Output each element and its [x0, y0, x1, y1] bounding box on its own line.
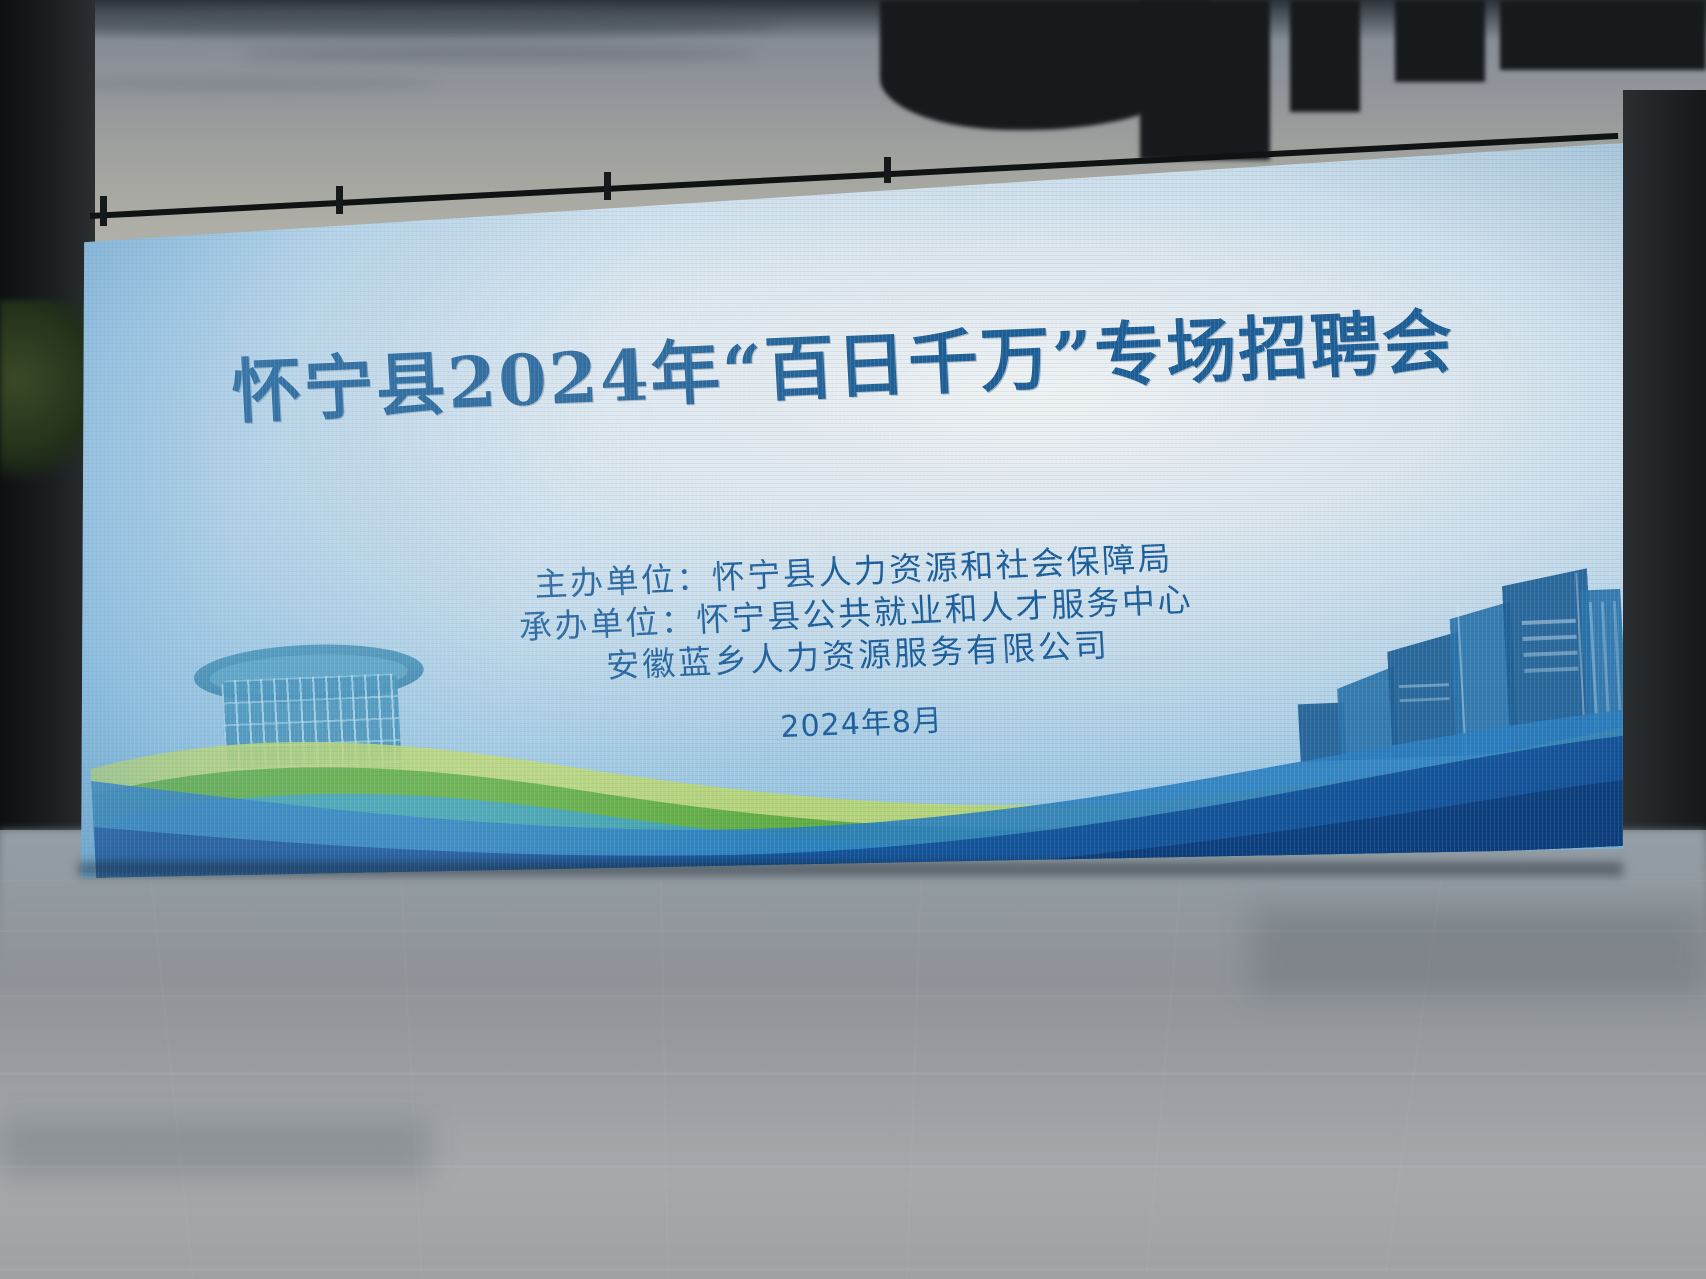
banner-content: 怀宁县2024年“百日千万”专场招聘会 主办单位：怀宁县人力资源和社会保障局 承… [78, 143, 1623, 878]
paving-stain [0, 1120, 430, 1180]
paving-line [0, 1268, 1706, 1271]
led-screen-backdrop: 怀宁县2024年“百日千万”专场招聘会 主办单位：怀宁县人力资源和社会保障局 承… [78, 143, 1623, 878]
paving-stain [1250, 905, 1706, 995]
truss-pole [884, 157, 891, 183]
screenshot-root: 怀宁县2024年“百日千万”专场招聘会 主办单位：怀宁县人力资源和社会保障局 承… [0, 0, 1706, 1279]
stage-base-shadow [78, 862, 1623, 876]
paving-line [0, 1072, 1706, 1075]
overhead-structure [1500, 0, 1706, 70]
truss-pole [100, 196, 107, 226]
cloud-streak [60, 78, 440, 90]
overhead-structure [1140, 0, 1270, 160]
foliage [0, 300, 90, 500]
truss-pole [336, 186, 343, 214]
paving-line [0, 880, 1706, 882]
overhead-structure [1290, 0, 1360, 112]
banner-title: 怀宁县2024年“百日千万”专场招聘会 [78, 279, 1617, 445]
cloud-streak [240, 46, 760, 62]
overhead-structure [1395, 0, 1485, 82]
paving-line [0, 995, 1706, 997]
cloud-streak [20, 10, 780, 36]
right-dark-edge [1623, 90, 1706, 890]
truss-pole [604, 172, 611, 200]
